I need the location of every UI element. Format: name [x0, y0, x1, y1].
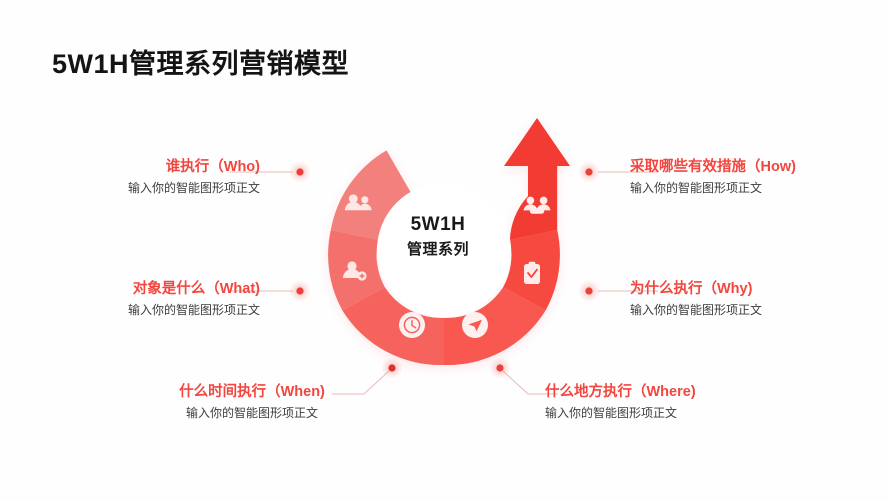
segment-where — [444, 287, 546, 365]
callout-how-subtitle: 输入你的智能图形项正文 — [630, 180, 880, 197]
callout-when-title: 什么时间执行（When) — [152, 383, 352, 401]
callout-how[interactable]: 采取哪些有效措施（How) 输入你的智能图形项正文 — [630, 158, 880, 198]
callout-who-title: 谁执行（Who) — [10, 158, 260, 176]
clock-icon — [399, 312, 425, 338]
connector-dot-where — [489, 357, 511, 379]
connector-dot-when — [381, 357, 403, 379]
hub-line-2: 管理系列 — [378, 239, 498, 260]
callout-how-title: 采取哪些有效措施（How) — [630, 158, 880, 176]
two-people-icon — [345, 194, 372, 210]
segment-what — [328, 230, 385, 310]
hub-line-1: 5W1H — [378, 212, 498, 239]
segment-why — [503, 230, 560, 310]
callout-what-title: 对象是什么（What) — [10, 280, 260, 298]
callout-who-subtitle: 输入你的智能图形项正文 — [10, 180, 260, 197]
person-badge-icon — [343, 261, 367, 280]
callout-when-subtitle: 输入你的智能图形项正文 — [152, 405, 352, 422]
segment-how-arrow — [504, 118, 570, 240]
callout-where-title: 什么地方执行（Where) — [545, 383, 765, 401]
hub-label: 5W1H 管理系列 — [378, 212, 498, 260]
handshake-icon — [524, 197, 551, 214]
callout-where[interactable]: 什么地方执行（Where) 输入你的智能图形项正文 — [545, 383, 765, 423]
page-title: 5W1H管理系列营销模型 — [52, 42, 349, 81]
connector-dot-who — [289, 161, 311, 183]
clipboard-check-icon — [524, 262, 540, 284]
callout-who[interactable]: 谁执行（Who) 输入你的智能图形项正文 — [10, 158, 260, 198]
callout-what-subtitle: 输入你的智能图形项正文 — [10, 302, 260, 319]
paper-plane-icon — [462, 312, 488, 338]
slide-canvas: 5W1H管理系列营销模型 — [0, 0, 888, 500]
callout-when[interactable]: 什么时间执行（When) 输入你的智能图形项正文 — [152, 383, 352, 423]
segment-when — [342, 287, 444, 365]
callout-why[interactable]: 为什么执行（Why) 输入你的智能图形项正文 — [630, 280, 880, 320]
connector-dot-what — [289, 280, 311, 302]
callout-why-title: 为什么执行（Why) — [630, 280, 880, 298]
callout-why-subtitle: 输入你的智能图形项正文 — [630, 302, 880, 319]
connector-dot-why — [578, 280, 600, 302]
connector-dot-how — [578, 161, 600, 183]
callout-what[interactable]: 对象是什么（What) 输入你的智能图形项正文 — [10, 280, 260, 320]
callout-where-subtitle: 输入你的智能图形项正文 — [545, 405, 765, 422]
